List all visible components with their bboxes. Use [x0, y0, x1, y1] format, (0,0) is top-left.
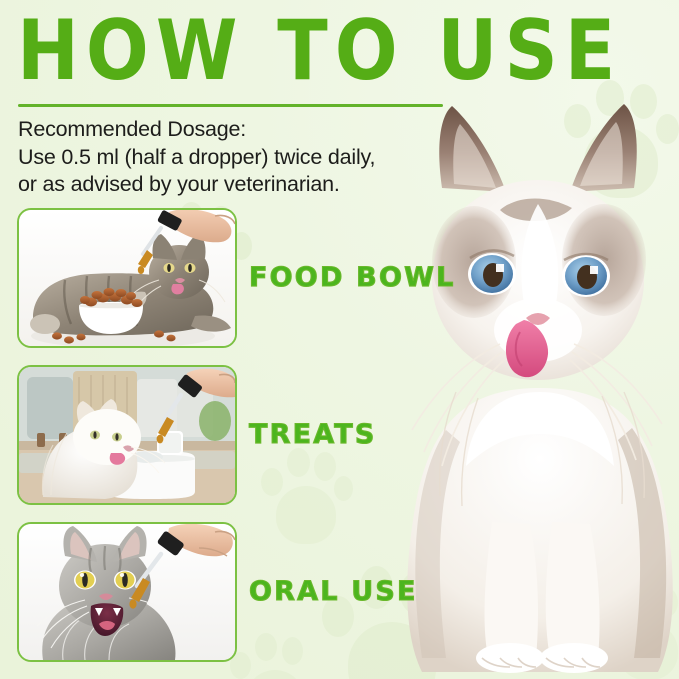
paw-print-icon: [228, 630, 320, 679]
dosage-line-2: Use 0.5 ml (half a dropper) twice daily,: [18, 144, 466, 172]
step-card-food-bowl: [17, 208, 237, 348]
dosage-line-3: or as advised by your veterinarian.: [18, 171, 466, 199]
title-divider: [18, 104, 443, 107]
dosage-block: Recommended Dosage: Use 0.5 ml (half a d…: [18, 116, 466, 199]
step-label-treats: TREATS: [249, 419, 377, 450]
step-label-food-bowl: FOOD BOWL: [249, 262, 455, 293]
dosage-heading: Recommended Dosage:: [18, 116, 466, 144]
step-card-oral-use: [17, 522, 237, 662]
step-card-treats: [17, 365, 237, 505]
paw-print-icon: [258, 444, 354, 548]
step-label-oral-use: ORAL USE: [249, 576, 418, 607]
step-image-oral-use: [19, 524, 235, 660]
how-to-use-poster: HOW TO USE Recommended Dosage: Use 0.5 m…: [0, 0, 679, 679]
step-image-food-bowl: [19, 210, 235, 346]
page-title: HOW TO USE: [17, 6, 657, 96]
step-image-treats: [19, 367, 235, 503]
